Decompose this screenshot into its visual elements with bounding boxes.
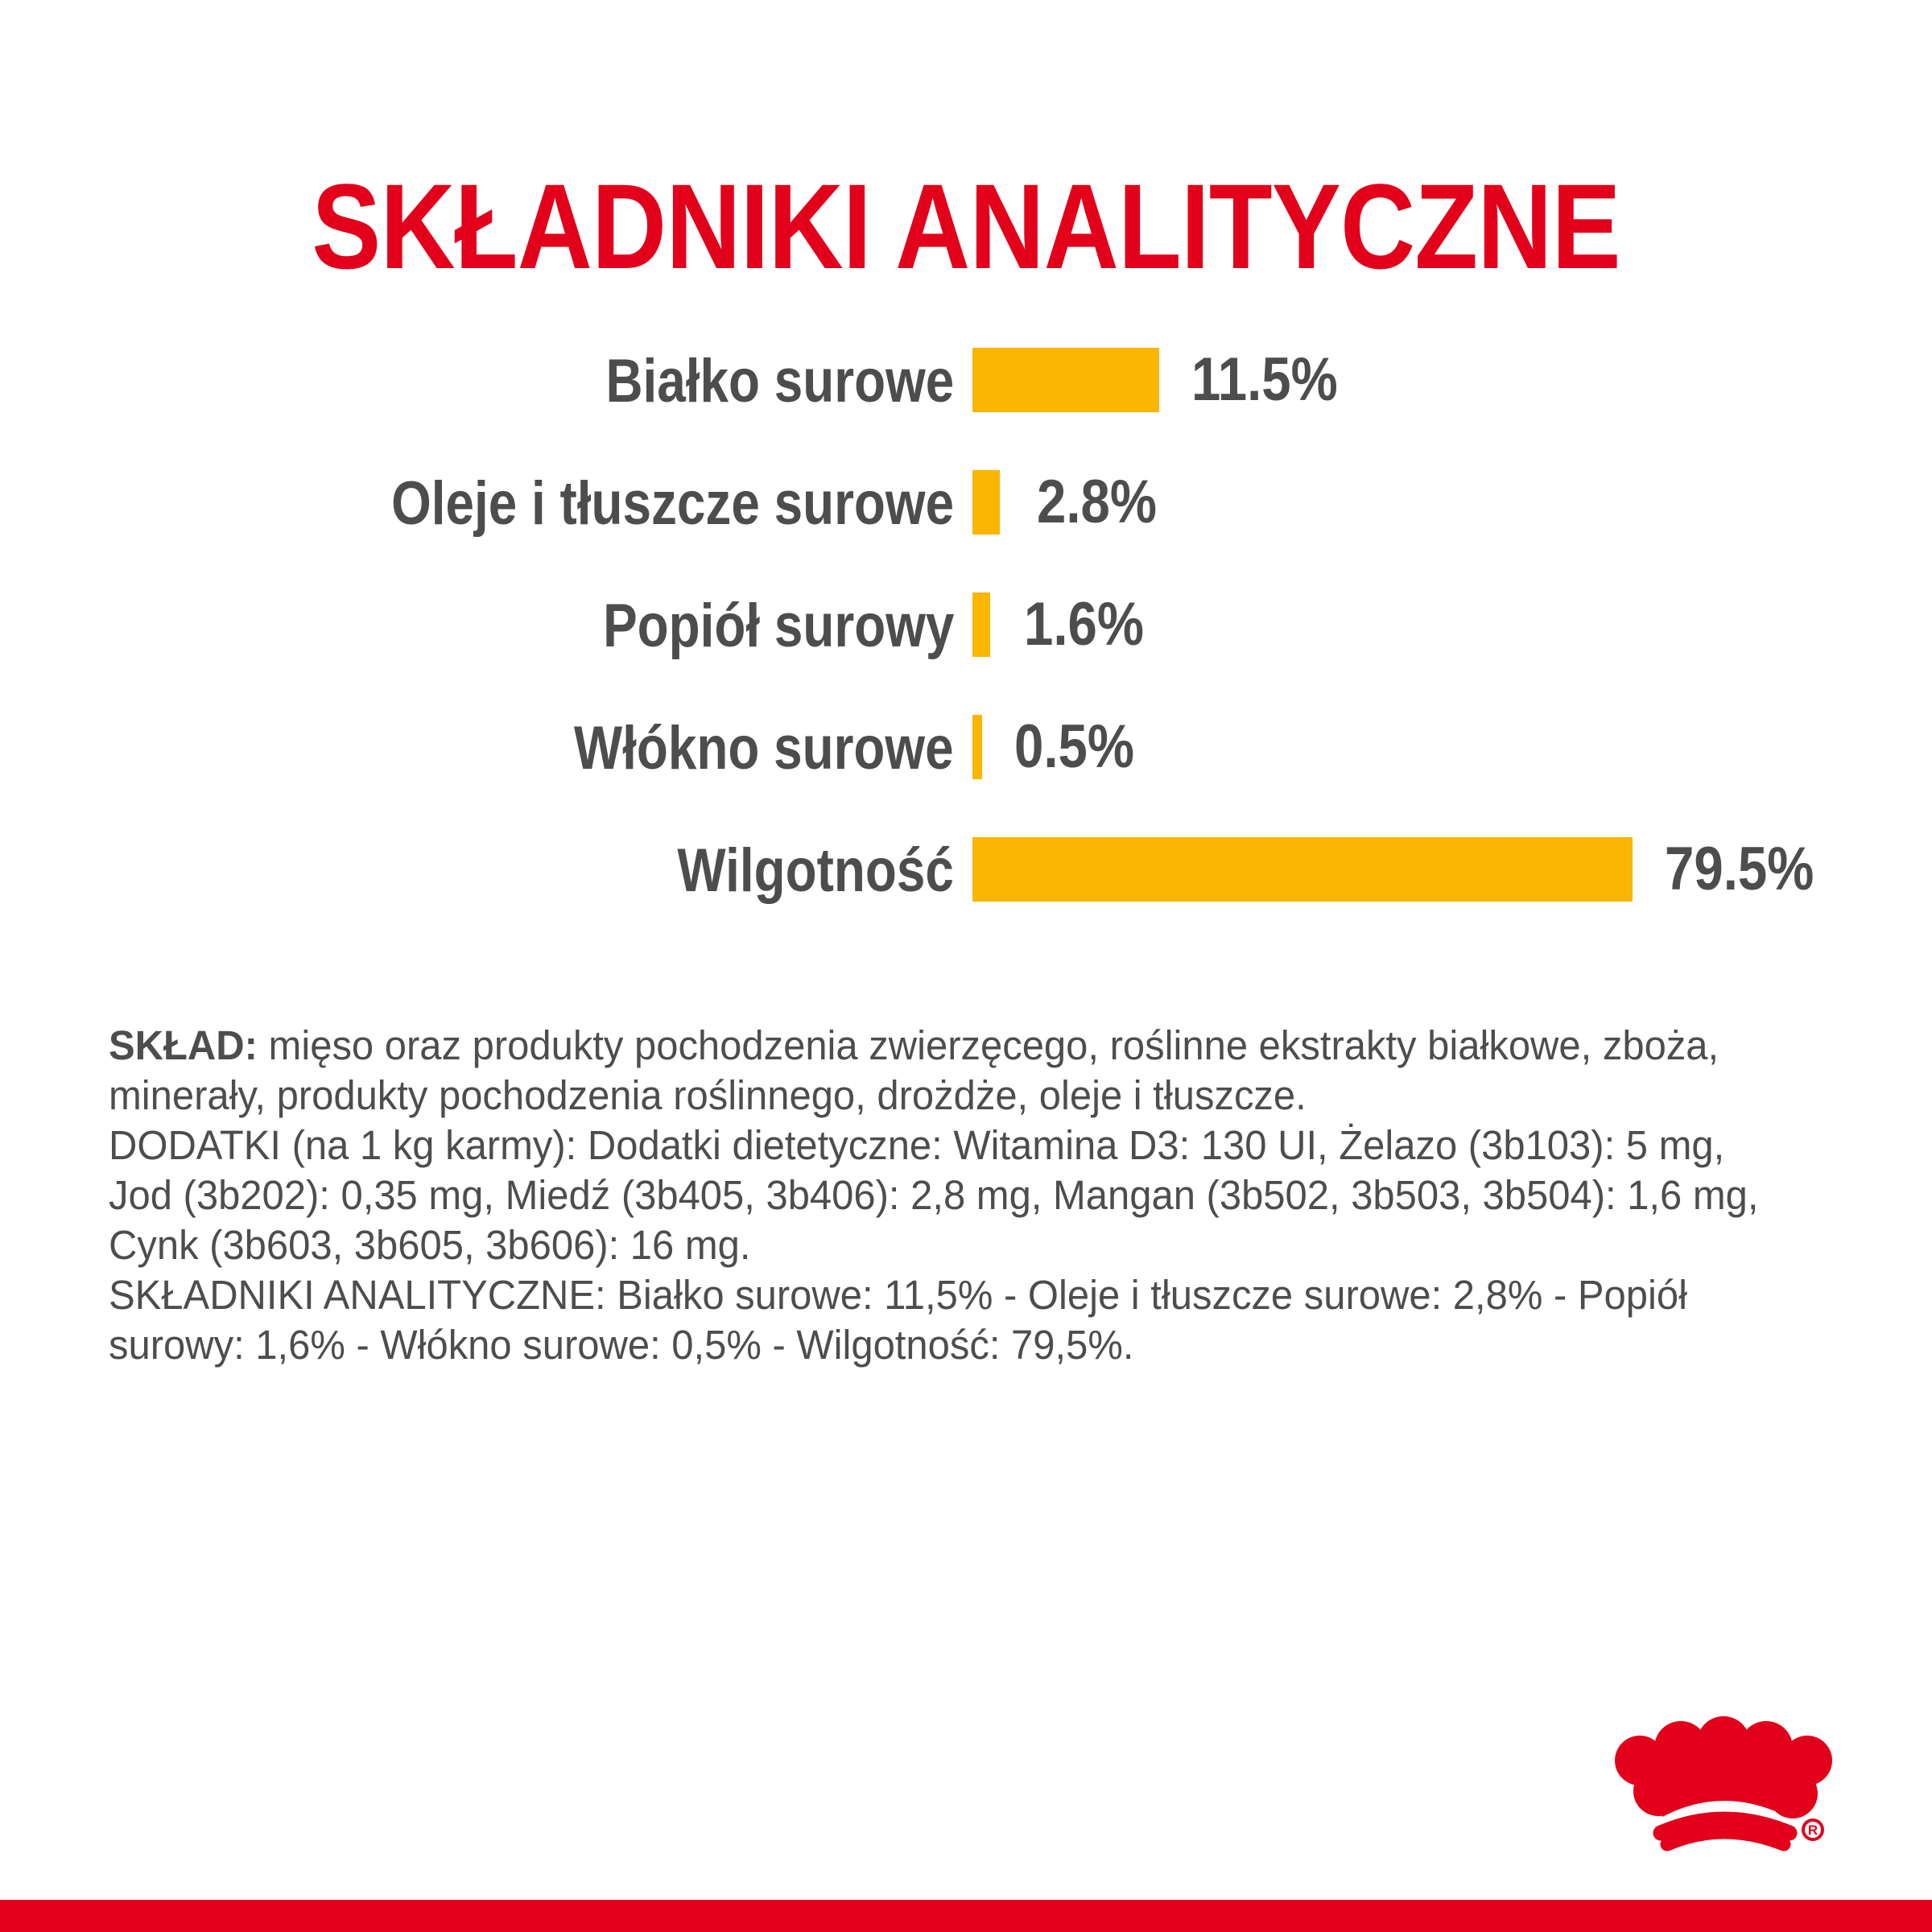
royal-canin-crown-logo: R bbox=[1590, 1711, 1847, 1864]
chart-row: Wilgotność 79.5% bbox=[0, 819, 1932, 942]
composition-paragraph: SKŁAD: mięso oraz produkty pochodzenia z… bbox=[109, 1021, 1794, 1121]
additives-paragraph: DODATKI (na 1 kg karmy): Dodatki dietety… bbox=[109, 1121, 1794, 1270]
bar-fill bbox=[972, 470, 1000, 535]
page-root: SKŁADNIKI ANALITYCZNE Białko surowe 11.5… bbox=[0, 0, 1932, 1932]
chart-row: Oleje i tłuszcze surowe 2.8% bbox=[0, 452, 1932, 575]
chart-row: Włókno surowe 0.5% bbox=[0, 697, 1932, 819]
analytical-paragraph: SKŁADNIKI ANALITYCZNE: Białko surowe: 11… bbox=[109, 1270, 1794, 1370]
bottom-red-bar bbox=[0, 1900, 1932, 1932]
svg-text:R: R bbox=[1808, 1823, 1818, 1838]
bar-fill bbox=[972, 715, 982, 779]
bar-label: Wilgotność bbox=[678, 839, 954, 903]
bar-fill bbox=[972, 348, 1159, 412]
bar-label: Białko surowe bbox=[605, 349, 954, 414]
bar-value: 11.5% bbox=[1191, 348, 1338, 412]
bar-label: Włókno surowe bbox=[574, 716, 954, 781]
bar-label: Popiół surowy bbox=[603, 594, 954, 658]
composition-text: mięso oraz produkty pochodzenia zwierzęc… bbox=[109, 1022, 1719, 1118]
chart-row: Popiół surowy 1.6% bbox=[0, 575, 1932, 697]
bar-fill bbox=[972, 592, 990, 657]
composition-heading: SKŁAD: bbox=[109, 1022, 258, 1068]
bar-value: 0.5% bbox=[1014, 715, 1134, 779]
ingredients-text-block: SKŁAD: mięso oraz produkty pochodzenia z… bbox=[109, 1021, 1794, 1370]
bar-value: 79.5% bbox=[1665, 837, 1814, 902]
chart-row: Białko surowe 11.5% bbox=[0, 330, 1932, 452]
analytical-constituents-chart: Białko surowe 11.5% Oleje i tłuszcze sur… bbox=[0, 330, 1932, 942]
bar-fill bbox=[972, 837, 1633, 902]
bar-value: 2.8% bbox=[1037, 470, 1157, 535]
bar-label: Oleje i tłuszcze surowe bbox=[391, 472, 954, 536]
page-title: SKŁADNIKI ANALITYCZNE bbox=[135, 159, 1797, 294]
bar-value: 1.6% bbox=[1024, 592, 1144, 657]
